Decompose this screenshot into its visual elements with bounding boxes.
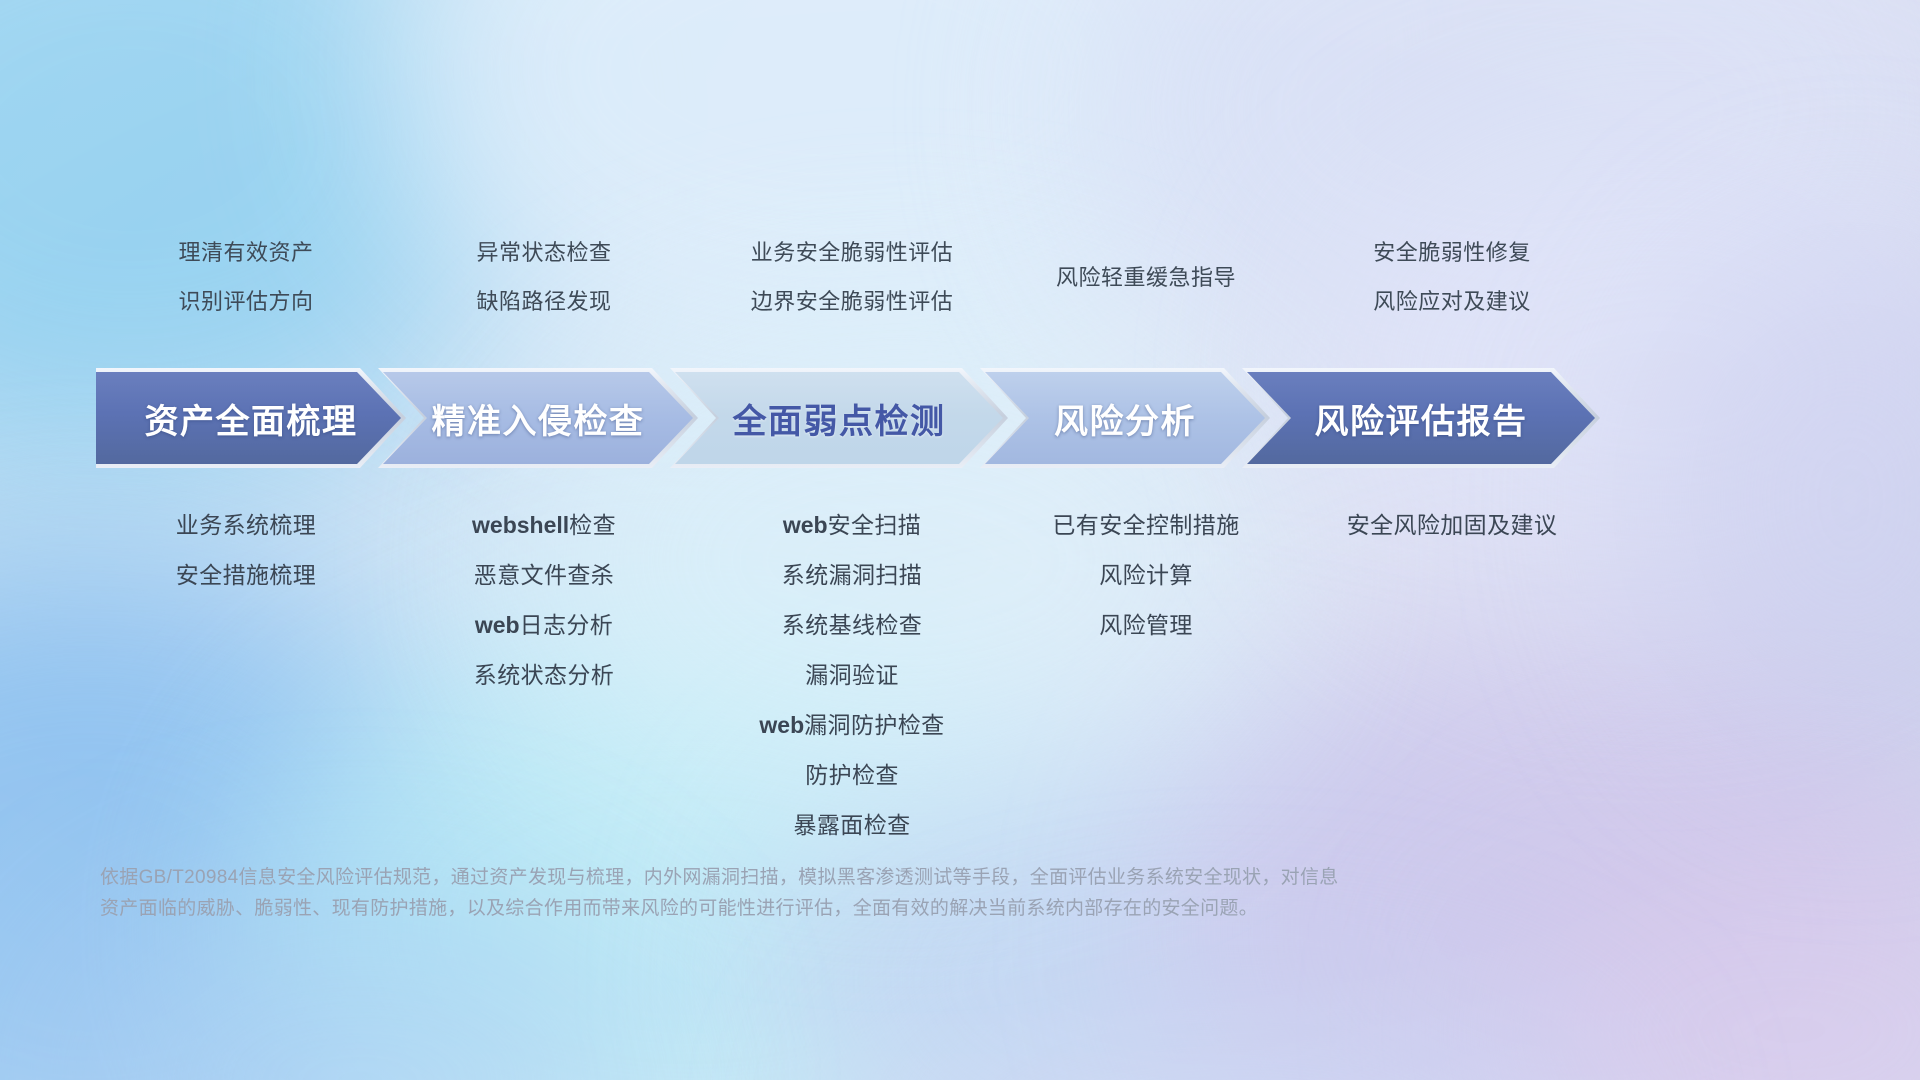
top-note: 理清有效资产 (96, 228, 396, 277)
item-cjk: 系统漏洞扫描 (782, 562, 922, 588)
item-latin: web (475, 612, 520, 638)
stage-title: 风险评估报告 (1315, 394, 1528, 443)
process-arrow-band: 资产全面梳理 精准入侵检查 全面弱点检测 风险分析 风险评估报告 (96, 368, 1838, 468)
stage-arrow-asset-inventory[interactable]: 资产全面梳理 (96, 368, 406, 468)
top-note: 识别评估方向 (96, 277, 396, 326)
top-notes-weakness-detection: 业务安全脆弱性评估 边界安全脆弱性评估 (692, 228, 1012, 326)
top-note: 风险应对及建议 (1280, 277, 1624, 326)
list-item: 系统漏洞扫描 (782, 550, 922, 600)
item-cjk: 安全措施梳理 (176, 562, 316, 588)
item-cjk: 漏洞防护检查 (804, 712, 944, 738)
list-item: 业务系统梳理 (176, 500, 316, 550)
top-note: 业务安全脆弱性评估 (692, 228, 1012, 277)
item-cjk: 已有安全控制措施 (1052, 512, 1239, 538)
top-note: 异常状态检查 (396, 228, 692, 277)
list-item: web安全扫描 (783, 500, 921, 550)
stage-arrow-assessment-report[interactable]: 风险评估报告 (1242, 368, 1600, 468)
list-item: 风险计算 (1099, 550, 1193, 600)
list-item: 已有安全控制措施 (1052, 500, 1239, 550)
stage-title: 全面弱点检测 (733, 394, 946, 443)
item-latin: web (783, 512, 828, 538)
footer-line: 依据GB/T20984信息安全风险评估规范，通过资产发现与梳理，内外网漏洞扫描，… (100, 862, 1660, 893)
detail-list-weakness-detection: web安全扫描 系统漏洞扫描 系统基线检查 漏洞验证 web漏洞防护检查 防护检… (692, 500, 1012, 850)
detail-list-asset-inventory: 业务系统梳理 安全措施梳理 (96, 500, 396, 850)
item-cjk: 安全风险加固及建议 (1347, 512, 1558, 538)
item-cjk: 业务系统梳理 (176, 512, 316, 538)
item-cjk: 系统基线检查 (782, 612, 922, 638)
list-item: webshell检查 (472, 500, 616, 550)
stage-arrow-risk-analysis[interactable]: 风险分析 (980, 368, 1270, 468)
top-note: 风险轻重缓急指导 (1012, 253, 1280, 302)
item-cjk: 检查 (569, 512, 616, 538)
item-cjk: 日志分析 (520, 612, 614, 638)
list-item: web漏洞防护检查 (759, 700, 944, 750)
stage-title: 风险分析 (1054, 394, 1196, 443)
list-item: 系统状态分析 (474, 650, 614, 700)
item-cjk: 防护检查 (805, 762, 899, 788)
stage-title: 精准入侵检查 (432, 394, 645, 443)
item-cjk: 风险计算 (1099, 562, 1193, 588)
footer-description: 依据GB/T20984信息安全风险评估规范，通过资产发现与梳理，内外网漏洞扫描，… (100, 862, 1660, 924)
list-item: web日志分析 (475, 600, 613, 650)
detail-list-assessment-report: 安全风险加固及建议 (1280, 500, 1624, 850)
item-cjk: 安全扫描 (828, 512, 922, 538)
list-item: 系统基线检查 (782, 600, 922, 650)
stage-title: 资产全面梳理 (145, 394, 358, 443)
detail-list-risk-analysis: 已有安全控制措施 风险计算 风险管理 (1012, 500, 1280, 850)
list-item: 防护检查 (805, 750, 899, 800)
top-notes-assessment-report: 安全脆弱性修复 风险应对及建议 (1280, 228, 1624, 326)
stage-arrow-weakness-detection[interactable]: 全面弱点检测 (670, 368, 1008, 468)
item-cjk: 恶意文件查杀 (474, 562, 614, 588)
top-note: 安全脆弱性修复 (1280, 228, 1624, 277)
top-note: 边界安全脆弱性评估 (692, 277, 1012, 326)
item-latin: webshell (472, 512, 569, 538)
top-notes-intrusion-check: 异常状态检查 缺陷路径发现 (396, 228, 692, 326)
list-item: 漏洞验证 (805, 650, 899, 700)
top-notes-risk-analysis: 风险轻重缓急指导 (1012, 228, 1280, 326)
item-cjk: 系统状态分析 (474, 662, 614, 688)
stage-arrow-intrusion-check[interactable]: 精准入侵检查 (378, 368, 698, 468)
detail-list-intrusion-check: webshell检查 恶意文件查杀 web日志分析 系统状态分析 (396, 500, 692, 850)
item-cjk: 暴露面检查 (794, 812, 911, 838)
process-diagram: 理清有效资产 识别评估方向 异常状态检查 缺陷路径发现 业务安全脆弱性评估 边界… (0, 0, 1920, 1080)
stage-top-notes-row: 理清有效资产 识别评估方向 异常状态检查 缺陷路径发现 业务安全脆弱性评估 边界… (96, 228, 1824, 326)
list-item: 风险管理 (1099, 600, 1193, 650)
list-item: 暴露面检查 (794, 800, 911, 850)
top-note: 缺陷路径发现 (396, 277, 692, 326)
list-item: 恶意文件查杀 (474, 550, 614, 600)
item-cjk: 漏洞验证 (805, 662, 899, 688)
top-notes-asset-inventory: 理清有效资产 识别评估方向 (96, 228, 396, 326)
item-latin: web (759, 712, 804, 738)
footer-line: 资产面临的威胁、脆弱性、现有防护措施，以及综合作用而带来风险的可能性进行评估，全… (100, 893, 1660, 924)
stage-detail-rows: 业务系统梳理 安全措施梳理 webshell检查 恶意文件查杀 web日志分析 … (96, 500, 1824, 850)
list-item: 安全风险加固及建议 (1347, 500, 1558, 550)
item-cjk: 风险管理 (1099, 612, 1193, 638)
list-item: 安全措施梳理 (176, 550, 316, 600)
